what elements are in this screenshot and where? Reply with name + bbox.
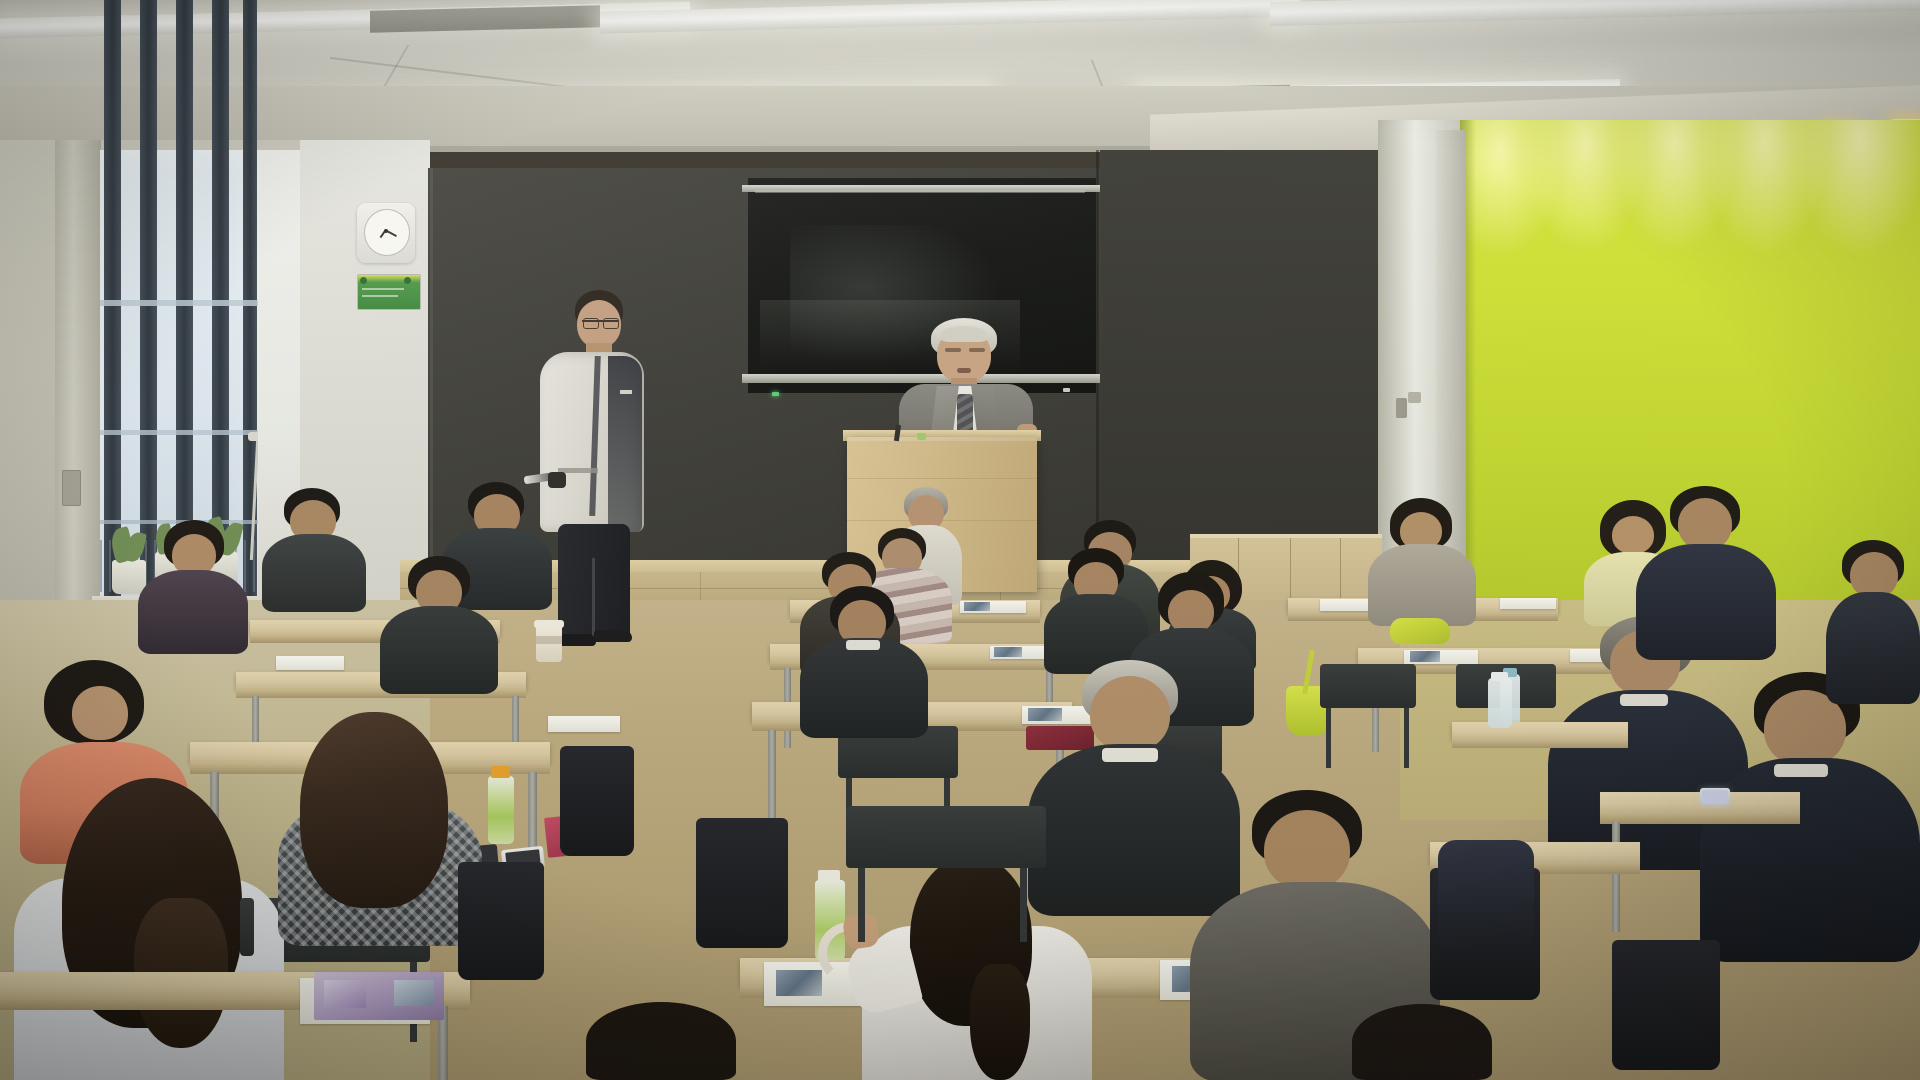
handout-image: [776, 970, 822, 996]
screen-status-led: [1063, 388, 1070, 392]
desk-edge: [1600, 814, 1800, 824]
handout-image: [964, 602, 990, 611]
scarf: [1390, 618, 1450, 644]
brochure-image: [394, 980, 434, 1006]
clock-center-pin: [384, 229, 388, 233]
bottle-cap: [491, 766, 510, 778]
bottle-cap: [818, 870, 840, 882]
long-hair: [300, 712, 448, 908]
shoe: [594, 630, 632, 642]
attendee: [1636, 486, 1776, 656]
window-mullion: [100, 300, 258, 306]
exit-sign-icon: [404, 277, 411, 284]
floor-bag: [458, 862, 544, 980]
floor-bag: [1612, 940, 1720, 1070]
desk-leg: [768, 730, 776, 820]
screen-status-led: [772, 392, 779, 396]
attendee: [380, 556, 498, 692]
handout-image: [994, 647, 1022, 657]
photo-scene: [0, 0, 1920, 1080]
podium-indicator-light: [917, 433, 926, 440]
screen-top-line: [755, 190, 1085, 193]
shirt-collar: [1774, 764, 1828, 777]
desk-leg: [1612, 822, 1620, 932]
floor-bag: [696, 818, 788, 948]
smartphone-screen-glow: [1702, 790, 1728, 804]
handout-image: [1410, 651, 1440, 662]
attendee: [138, 520, 248, 650]
brochure-image: [324, 980, 366, 1008]
water-bottle: [1488, 678, 1512, 728]
shoe: [556, 634, 596, 646]
podium-speaker: [895, 318, 1035, 448]
bottle-cap: [1491, 672, 1508, 681]
light-switch[interactable]: [1408, 392, 1421, 403]
chair[interactable]: [240, 898, 254, 956]
floor-bag: [560, 746, 634, 856]
green-tea-bottle: [488, 776, 514, 844]
shirt-collar: [1102, 748, 1158, 762]
eyeglasses-icon: [603, 318, 619, 329]
eyeglasses-icon: [583, 318, 599, 329]
shirt-collar: [1620, 694, 1668, 706]
attendee: [262, 488, 366, 608]
handout: [548, 716, 620, 732]
exit-sign-icon: [360, 277, 367, 284]
attendee: [576, 1002, 766, 1080]
shirt-collar: [846, 640, 880, 650]
chair[interactable]: [1320, 664, 1416, 708]
handout: [1500, 598, 1556, 609]
attendee: [1826, 540, 1920, 700]
chair[interactable]: [846, 806, 1046, 868]
window-mullion: [100, 430, 258, 435]
desk-edge: [1452, 740, 1628, 748]
light-switch-plate[interactable]: [62, 470, 81, 506]
attendee: [800, 586, 928, 736]
backpack: [1438, 840, 1534, 956]
attendee: [1368, 498, 1476, 624]
handout: [276, 656, 344, 670]
light-switch[interactable]: [1396, 398, 1407, 418]
attendee: [278, 712, 482, 942]
attendee: [1344, 1004, 1512, 1080]
desk: [1452, 722, 1628, 740]
